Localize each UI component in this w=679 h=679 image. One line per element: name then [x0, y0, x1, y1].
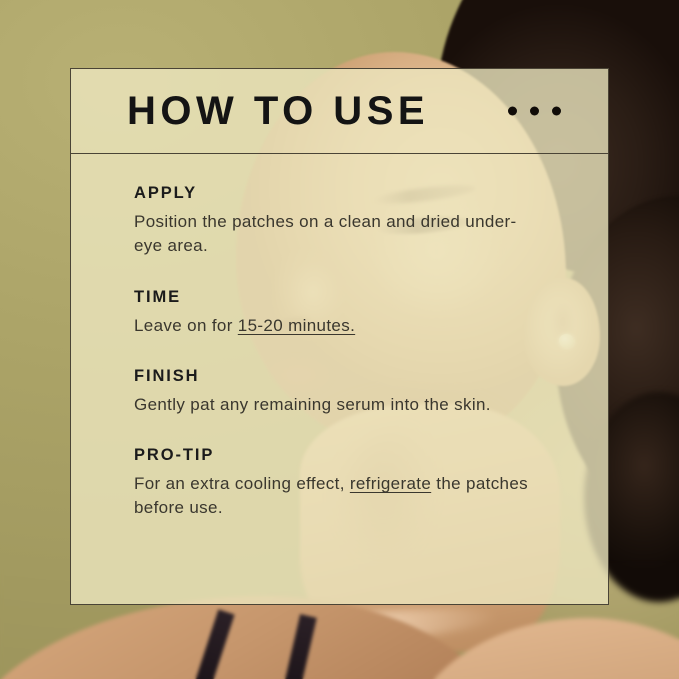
- overflow-menu-icon[interactable]: [508, 107, 561, 116]
- step-heading-apply: APPLY: [134, 184, 564, 203]
- instruction-step-finish: FINISH Gently pat any remaining serum in…: [134, 367, 564, 417]
- step-heading-time: TIME: [134, 288, 564, 307]
- step-text-protip-emphasis: refrigerate: [350, 474, 431, 493]
- step-text-finish-part1: Gently pat any remaining serum into the …: [134, 395, 491, 414]
- instruction-step-apply: APPLY Position the patches on a clean an…: [134, 184, 564, 259]
- step-text-time: Leave on for 15-20 minutes.: [134, 314, 534, 338]
- screenshot-stage: HOW TO USE APPLY Position the patches on…: [0, 0, 679, 679]
- step-text-finish: Gently pat any remaining serum into the …: [134, 393, 534, 417]
- menu-dot-3: [552, 107, 561, 116]
- step-text-apply-part1: Position the patches on a clean and drie…: [134, 212, 517, 255]
- card-body: APPLY Position the patches on a clean an…: [71, 154, 608, 521]
- card-header: HOW TO USE: [71, 69, 608, 154]
- how-to-use-card: HOW TO USE APPLY Position the patches on…: [70, 68, 609, 605]
- menu-dot-1: [508, 107, 517, 116]
- step-text-protip: For an extra cooling effect, refrigerate…: [134, 472, 534, 521]
- step-heading-protip: PRO-TIP: [134, 446, 564, 465]
- step-heading-finish: FINISH: [134, 367, 564, 386]
- step-text-time-emphasis: 15-20 minutes.: [238, 316, 355, 335]
- instruction-step-protip: PRO-TIP For an extra cooling effect, ref…: [134, 446, 564, 521]
- step-text-protip-part1: For an extra cooling effect,: [134, 474, 350, 493]
- instruction-step-time: TIME Leave on for 15-20 minutes.: [134, 288, 564, 338]
- step-text-time-part1: Leave on for: [134, 316, 238, 335]
- menu-dot-2: [530, 107, 539, 116]
- step-text-apply: Position the patches on a clean and drie…: [134, 210, 534, 259]
- page-title: HOW TO USE: [127, 91, 429, 131]
